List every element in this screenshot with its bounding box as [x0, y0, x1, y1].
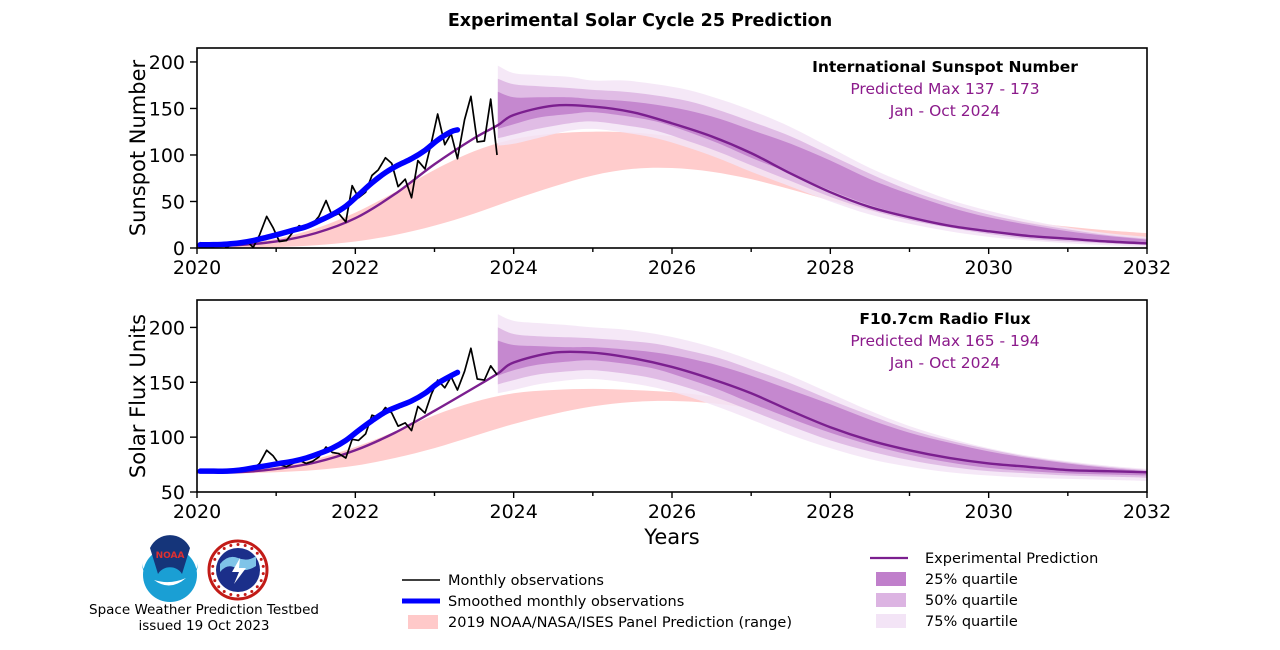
legend-label: Monthly observations: [448, 573, 604, 589]
x-tick-label: 2020: [173, 501, 221, 523]
legend-label: 75% quartile: [925, 614, 1018, 630]
x-tick-label: 2026: [648, 501, 696, 523]
x-tick-label: 2028: [806, 501, 854, 523]
y-tick-label: 100: [149, 427, 185, 449]
legend-left: Monthly observationsSmoothed monthly obs…: [402, 573, 792, 631]
nws-ring-mark: [217, 585, 220, 588]
x-axis-label: Years: [643, 525, 699, 549]
nws-ring-mark: [250, 547, 253, 550]
x-tick-label: 2022: [331, 501, 379, 523]
y-axis-label: Solar Flux Units: [126, 314, 150, 478]
solar-cycle-figure: Experimental Solar Cycle 25 Prediction20…: [0, 0, 1280, 650]
nws-ring-mark: [250, 590, 253, 593]
nws-ring-mark: [223, 547, 226, 550]
y-tick-label: 0: [173, 238, 185, 260]
y-tick-label: 150: [149, 98, 185, 120]
legend-swatch-patch: [876, 593, 906, 607]
x-tick-label: 2030: [964, 257, 1012, 279]
y-tick-label: 50: [161, 191, 185, 213]
x-tick-label: 2020: [173, 257, 221, 279]
y-tick-label: 50: [161, 482, 185, 504]
y-tick-label: 150: [149, 372, 185, 394]
noaa-logo: NOAA: [142, 535, 198, 602]
predicted-max-label: Predicted Max 137 - 173: [850, 80, 1039, 98]
nws-ring-mark: [237, 543, 240, 546]
noaa-wordmark: NOAA: [156, 551, 185, 561]
panel-annotation-header: F10.7cm Radio Flux: [859, 310, 1030, 328]
y-tick-label: 200: [149, 317, 185, 339]
nws-ring-mark: [213, 558, 216, 561]
nws-ring-mark: [211, 565, 214, 568]
y-tick-label: 100: [149, 145, 185, 167]
nws-ring-mark: [244, 544, 247, 547]
legend-label: 2019 NOAA/NASA/ISES Panel Prediction (ra…: [448, 615, 792, 631]
nws-ring-mark: [229, 544, 232, 547]
legend-label: Experimental Prediction: [925, 551, 1098, 567]
legend-right: Experimental Prediction25% quartile50% q…: [870, 551, 1098, 630]
legend-label: 50% quartile: [925, 593, 1018, 609]
nws-ring-mark: [244, 593, 247, 596]
x-tick-label: 2026: [648, 257, 696, 279]
footer-line-2: issued 19 Oct 2023: [139, 618, 270, 634]
y-axis-label: Sunspot Number: [126, 59, 150, 236]
y-tick-label: 200: [149, 52, 185, 74]
x-tick-label: 2028: [806, 257, 854, 279]
x-tick-label: 2032: [1123, 501, 1171, 523]
x-tick-label: 2024: [489, 257, 537, 279]
footer-logos: NOAASpace Weather Prediction Testbedissu…: [89, 535, 319, 634]
nws-ring-mark: [217, 552, 220, 555]
footer-line-1: Space Weather Prediction Testbed: [89, 602, 319, 618]
legend-swatch-patch: [876, 614, 906, 628]
figure-root: Experimental Solar Cycle 25 Prediction20…: [0, 0, 1280, 650]
nws-ring-mark: [213, 579, 216, 582]
nws-ring-mark: [237, 594, 240, 597]
nws-ring-mark: [262, 572, 265, 575]
panel-f107-radio-flux: 202020222024202620282030203250100150200S…: [126, 300, 1171, 549]
x-tick-label: 2032: [1123, 257, 1171, 279]
nws-ring-mark: [256, 552, 259, 555]
predicted-max-window: Jan - Oct 2024: [889, 354, 1001, 372]
nws-ring-mark: [223, 590, 226, 593]
x-tick-label: 2024: [489, 501, 537, 523]
x-tick-label: 2022: [331, 257, 379, 279]
legend-swatch-patch: [408, 615, 438, 629]
nws-ring-mark: [229, 593, 232, 596]
nws-ring-mark: [260, 558, 263, 561]
nws-ring-mark: [211, 572, 214, 575]
panel-annotation-header: International Sunspot Number: [812, 58, 1078, 76]
nws-ring-mark: [262, 565, 265, 568]
nws-ring-mark: [260, 579, 263, 582]
x-tick-label: 2030: [964, 501, 1012, 523]
predicted-max-window: Jan - Oct 2024: [889, 102, 1001, 120]
national-weather-service-logo: [209, 541, 267, 599]
predicted-max-label: Predicted Max 165 - 194: [850, 332, 1039, 350]
panel-sunspot-number: 2020202220242026202820302032050100150200…: [126, 48, 1171, 279]
figure-title: Experimental Solar Cycle 25 Prediction: [448, 11, 832, 31]
nws-ring-mark: [256, 585, 259, 588]
legend-swatch-patch: [876, 572, 906, 586]
legend-label: 25% quartile: [925, 572, 1018, 588]
legend-label: Smoothed monthly observations: [448, 594, 684, 610]
